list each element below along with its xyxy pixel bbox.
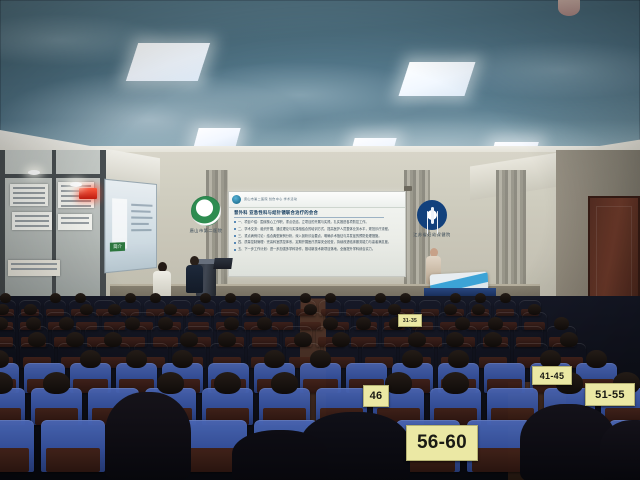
slide-bullet-4: 四、质量控制管理：完善科室质控体系，定期开展医疗质量安全检查，持续改进临床服务能…: [234, 240, 401, 245]
audience-member: [104, 332, 122, 347]
slide-title-rule: [234, 217, 384, 218]
slide-bullet-text: 五、下一步工作计划：进一步加强多学科协作，推动新技术新项目落地，全面提升学科综合…: [238, 247, 375, 252]
row-number-tag: 31-35: [398, 314, 422, 327]
audience-member: [80, 350, 101, 368]
side-screen-textline-5: [131, 229, 151, 231]
projector-mount: [404, 186, 412, 191]
bullet-dot-icon: [234, 235, 236, 237]
audience-member: [446, 332, 464, 347]
slide-bullet-text: 二、学术交流：组织开展，通过理论与实操相结合的培训方式，提高医护人员整体业务水平…: [238, 227, 391, 232]
audience-member: [472, 304, 485, 315]
slide-logo-icon: [232, 195, 241, 204]
audience-member: [80, 304, 93, 315]
audience-member: [360, 304, 373, 315]
audience-member: [554, 317, 569, 330]
audience-member: [450, 293, 461, 303]
seat[interactable]: [41, 420, 105, 472]
audience-member: [225, 293, 236, 303]
audience-member: [180, 332, 198, 347]
audience-member: [402, 350, 423, 368]
seat-armrest-panel: [46, 448, 100, 472]
vitruvian-crest-icon: [417, 200, 447, 230]
audience-member: [323, 317, 338, 330]
slide-header-org: 唐山市第二医院 创伤中心 学术活动: [244, 198, 297, 201]
wall-emblem-right: 江苏省妇幼保健院: [404, 200, 460, 238]
audience-member: [257, 317, 272, 330]
audience-member: [157, 372, 184, 394]
audience-member: [356, 317, 371, 330]
slide-bullet-text: 一、项目介绍：围绕核心工作职，重点总结，立项目的开展与实践，扎实推进各项防控工作…: [238, 220, 369, 225]
audience-member: [484, 332, 502, 347]
audience-member: [400, 293, 411, 303]
audience-member: [108, 304, 121, 315]
ceiling-panel-light-1: [126, 43, 210, 81]
audience-member: [444, 304, 457, 315]
audience-member: [325, 293, 336, 303]
audience-member: [310, 350, 331, 368]
audience-member: [488, 317, 503, 330]
exit-sign-icon: [79, 188, 97, 199]
audience-member: [224, 317, 239, 330]
wall-emblem-left-caption: 唐山市第二医院: [180, 228, 232, 234]
bullet-dot-icon: [234, 242, 236, 244]
audience-member: [500, 293, 511, 303]
row-number-tag: 56-60: [406, 425, 478, 461]
side-screen-textline-1: [131, 204, 152, 207]
side-projection-screen: 简介: [104, 179, 157, 274]
audience-member: [218, 332, 236, 347]
bullet-dot-icon: [234, 228, 236, 230]
audience-member: [385, 372, 412, 394]
audience-member: [586, 350, 607, 368]
main-projection-screen: 唐山市第二医院 创伤中心 学术活动 普外科 亚急性科与结针镜联合治疗的会合 一、…: [228, 191, 406, 277]
audience-member: [164, 304, 177, 315]
slide-bullet-text: 四、质量控制管理：完善科室质控体系，定期开展医疗质量安全检查，持续改进临床服务能…: [238, 240, 391, 245]
side-screen-textline-4: [131, 223, 149, 225]
row-number-tag: 46: [363, 385, 389, 407]
audience-member: [560, 332, 578, 347]
presenter-body: [186, 265, 203, 293]
audience-member: [0, 293, 11, 303]
notice-poster-3[interactable]: [12, 212, 52, 230]
audience-member: [332, 332, 350, 347]
seat-armrest-panel: [0, 448, 29, 472]
audience-member: [528, 304, 541, 315]
curtain-right: [496, 170, 526, 302]
bullet-dot-icon: [234, 249, 236, 251]
audience-member: [271, 372, 298, 394]
audience-member: [125, 317, 140, 330]
slide-title: 普外科 亚急性科与结针镜联合治疗的会合: [234, 210, 400, 216]
audience-member: [66, 332, 84, 347]
side-screen-textline-2: [131, 210, 150, 212]
audience-member: [126, 350, 147, 368]
slide-bullet-2: 二、学术交流：组织开展，通过理论与实操相结合的培训方式，提高医护人员整体业务水平…: [234, 227, 401, 232]
audience-member: [250, 293, 261, 303]
audience-member: [294, 332, 312, 347]
audience-member: [125, 293, 136, 303]
audience-member: [50, 293, 61, 303]
ceiling-panel-light-3: [193, 128, 240, 148]
audience-member: [214, 372, 241, 394]
ceiling-panel-light-2: [398, 62, 475, 96]
audience-member: [304, 304, 317, 315]
audience-member: [448, 350, 469, 368]
audience-member: [28, 332, 46, 347]
row-number-tag: 41-45: [532, 366, 572, 385]
mullion-horizontal: [0, 174, 106, 178]
audience-member: [455, 317, 470, 330]
notice-banner[interactable]: [8, 260, 60, 276]
wall-emblem-right-caption: 江苏省妇幼保健院: [404, 232, 460, 238]
corridor-downlight-2: [70, 182, 82, 187]
notice-poster-4[interactable]: [58, 214, 92, 230]
slide-bullet-1: 一、项目介绍：围绕核心工作职，重点总结，立项目的开展与实践，扎实推进各项防控工作…: [234, 220, 401, 225]
audience-member: [0, 304, 9, 315]
slide-bullet-text: 三、重点病例讨论：结合典型案例分析，深入剖析诊治要点，明确手术指征与并发症的预防…: [238, 234, 381, 239]
audience-member: [158, 317, 173, 330]
corridor-downlight-1: [28, 170, 40, 175]
audience-member: [264, 350, 285, 368]
hospital-crest-icon: [191, 196, 221, 226]
audience-member: [475, 293, 486, 303]
audience-member: [200, 293, 211, 303]
side-screen-badge: 简介: [110, 242, 125, 251]
audience-member: [75, 293, 86, 303]
slide-bullet-3: 三、重点病例讨论：结合典型案例分析，深入剖析诊治要点，明确手术指征与并发症的预防…: [234, 234, 401, 239]
side-screen-textline-3: [131, 216, 152, 218]
foreground-attendee: [105, 392, 191, 480]
seat-armrest-panel: [472, 448, 526, 472]
auditorium-photo: 简介 唐山市第二医院 江苏省妇幼保健院 唐山市第二医院 创伤中心 学术活动 普外…: [0, 0, 640, 480]
foreground-attendee: [232, 430, 328, 480]
audience-member: [408, 332, 426, 347]
bullet-dot-icon: [234, 221, 236, 223]
notice-poster-1[interactable]: [10, 184, 48, 206]
audience-member: [442, 372, 469, 394]
smoke-detector-icon: [558, 0, 580, 16]
wall-emblem-left: 唐山市第二医院: [180, 196, 232, 234]
audience-member: [59, 317, 74, 330]
audience-member: [300, 293, 311, 303]
seat[interactable]: [0, 420, 34, 472]
audience-member: [276, 304, 289, 315]
audience-member: [192, 304, 205, 315]
audience-member: [375, 293, 386, 303]
presenter-laptop: [213, 258, 233, 269]
slide-bullet-list: 一、项目介绍：围绕核心工作职，重点总结，立项目的开展与实践，扎实推进各项防控工作…: [234, 220, 401, 254]
audience-member: [172, 350, 193, 368]
audience-member: [24, 304, 37, 315]
audience-member: [43, 372, 70, 394]
audience-member: [26, 317, 41, 330]
row-number-tag: 51-55: [585, 383, 635, 406]
slide-header: 唐山市第二医院 创伤中心 学术活动: [229, 192, 406, 208]
audience-member: [150, 293, 161, 303]
slide-bullet-5: 五、下一步工作计划：进一步加强多学科协作，推动新技术新项目落地，全面提升学科综合…: [234, 247, 401, 252]
audience-member: [248, 304, 261, 315]
